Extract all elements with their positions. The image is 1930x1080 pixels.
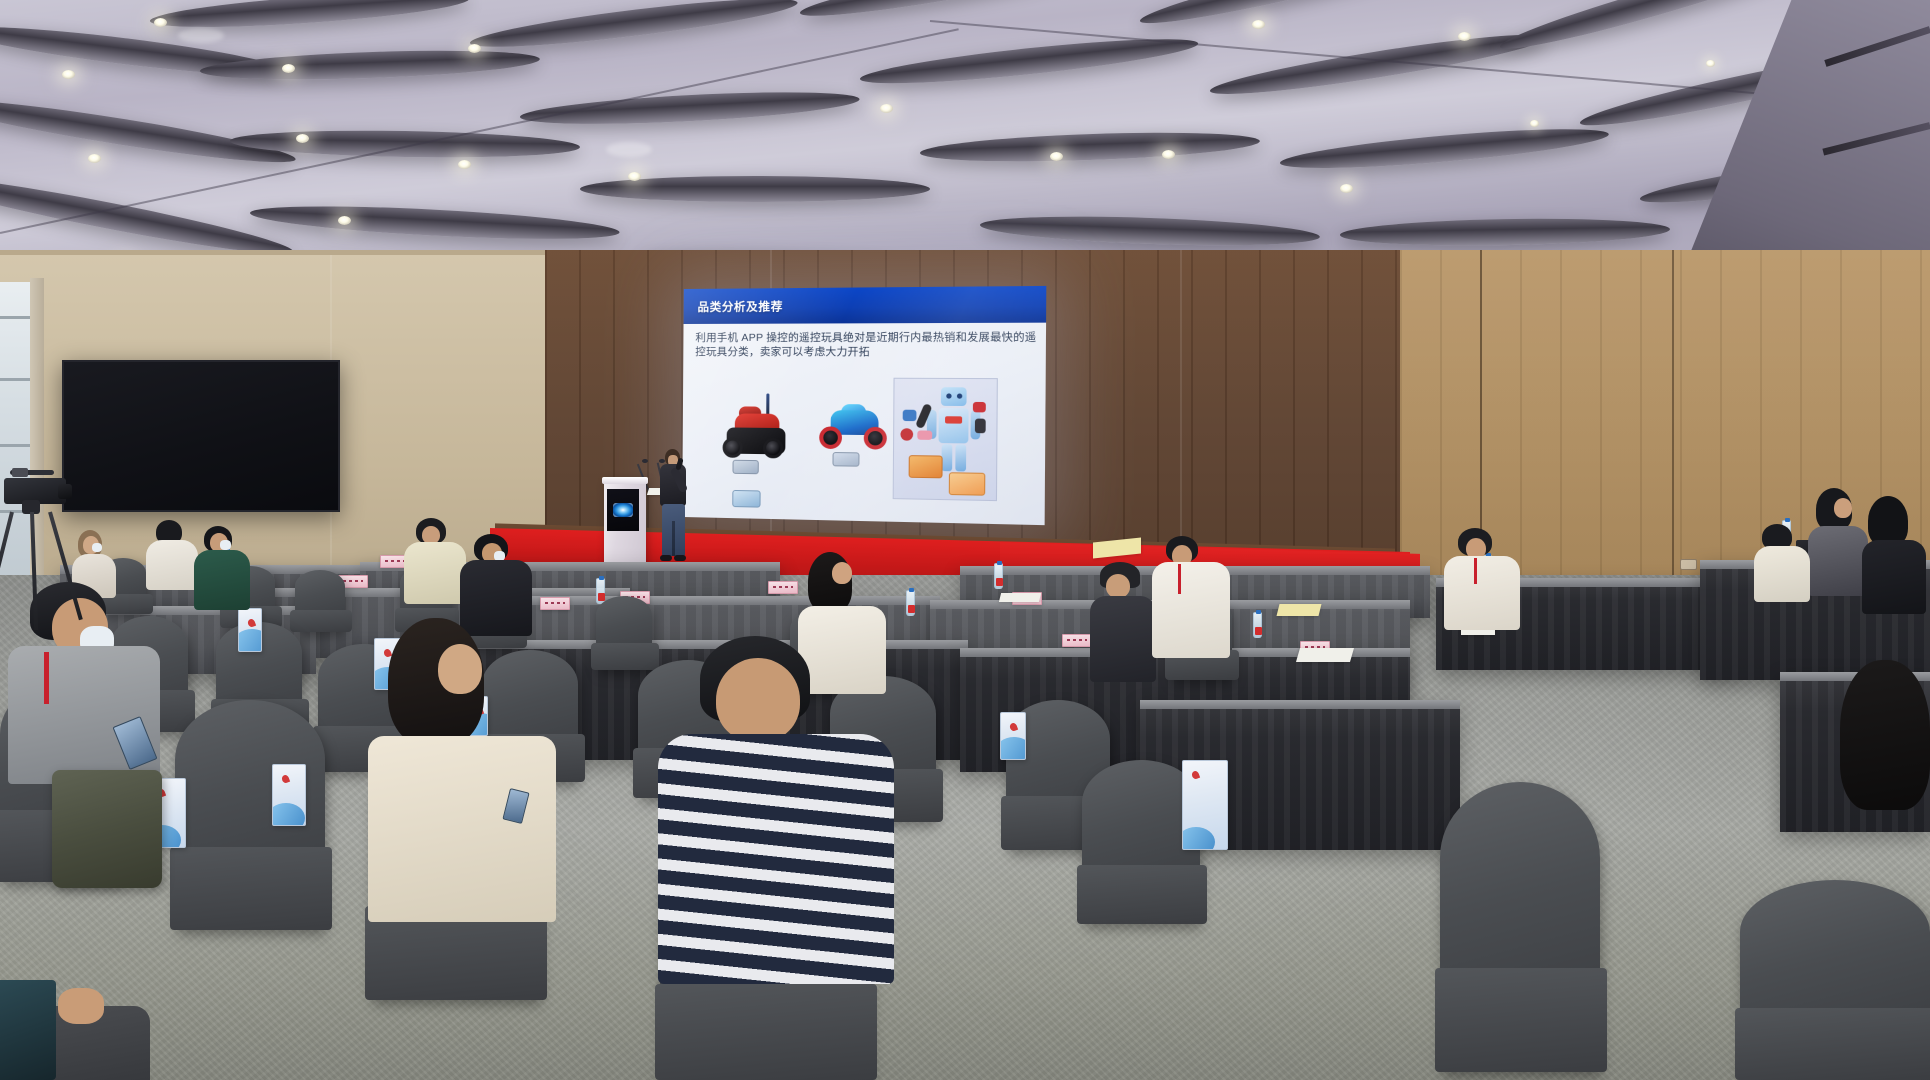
chair[interactable] [596, 596, 652, 670]
ceiling-spotlight [880, 104, 893, 113]
gift-bag[interactable] [1000, 712, 1026, 760]
camera-lens [58, 484, 72, 499]
lectern-display [607, 489, 639, 531]
chair[interactable] [295, 570, 345, 632]
document-on-table [1277, 604, 1322, 616]
camera-viewfinder [12, 468, 28, 477]
slide-photo-red-rc-tank [718, 397, 795, 464]
slide-photo-robot-kit [893, 378, 998, 501]
ceiling-spotlight [1340, 184, 1353, 193]
water-bottle[interactable] [1253, 612, 1262, 638]
table-name-card [540, 597, 570, 610]
ceiling-spotlight [1050, 152, 1063, 161]
left-led-display[interactable] [62, 360, 340, 512]
slide-body-line-1: 利用手机 APP 操控的遥控玩具绝对是近期行内最热销和发展最快的遥 [695, 330, 1039, 345]
ceiling-spotlight [1706, 60, 1715, 67]
hand-holding-phone-graphic [949, 472, 986, 495]
phone-app-graphic [732, 490, 760, 508]
document-on-table [1296, 648, 1354, 662]
slide-photo-blue-stunt-car [820, 404, 889, 462]
projection-screen[interactable]: 品类分析及推荐 利用手机 APP 操控的遥控玩具绝对是近期行内最热销和发展最快的… [682, 286, 1046, 525]
ceiling-spotlight [88, 154, 101, 163]
foreground-monitor [0, 980, 56, 1080]
ceiling-spotlight [338, 216, 351, 225]
slide-title: 品类分析及推荐 [684, 298, 783, 315]
water-bottle[interactable] [596, 578, 605, 604]
ceiling-spotlight [1252, 20, 1265, 29]
lectern-top [602, 477, 648, 484]
hand-holding-phone-graphic [909, 455, 943, 478]
gift-bag[interactable] [238, 608, 262, 652]
water-bottle[interactable] [994, 563, 1003, 589]
ceiling-spotlight [468, 44, 481, 53]
event-logo [613, 503, 633, 517]
slide-body: 利用手机 APP 操控的遥控玩具绝对是近期行内最热销和发展最快的遥 控玩具分类，… [695, 330, 1039, 359]
presenter [655, 449, 691, 567]
presentation-slide: 品类分析及推荐 利用手机 APP 操控的遥控玩具绝对是近期行内最热销和发展最快的… [682, 286, 1046, 525]
table-name-card [1062, 634, 1092, 647]
slide-header-bar: 品类分析及推荐 [684, 286, 1047, 324]
table-name-card [768, 581, 798, 594]
ceiling-spotlight [282, 64, 295, 73]
ceiling-spotlight [296, 134, 309, 143]
water-bottle[interactable] [906, 590, 915, 616]
wall-power-outlet [1680, 559, 1697, 570]
gift-bag[interactable] [272, 764, 306, 826]
document-on-table [999, 593, 1041, 602]
ceiling-spotlight [1530, 120, 1539, 127]
ceiling-spotlight [628, 172, 641, 181]
slide-photo-group [682, 371, 1046, 525]
conference-hall-scene: 品类分析及推荐 利用手机 APP 操控的遥控玩具绝对是近期行内最热销和发展最快的… [0, 0, 1930, 1080]
ceiling-spotlight [154, 18, 167, 27]
ceiling-spotlight [458, 160, 471, 169]
ceiling-spotlight [1162, 150, 1175, 159]
chair[interactable] [1740, 880, 1930, 1080]
slide-body-line-2: 控玩具分类，卖家可以考虑大力开拓 [695, 345, 1039, 360]
ceiling-spotlight [62, 70, 75, 79]
lectern[interactable] [604, 477, 646, 569]
gift-bag[interactable] [1182, 760, 1228, 850]
controller-graphic [832, 452, 859, 467]
chair[interactable] [1440, 782, 1600, 1072]
controller-graphic [732, 460, 758, 475]
ceiling-spotlight [1458, 32, 1471, 41]
backpack [52, 770, 162, 888]
